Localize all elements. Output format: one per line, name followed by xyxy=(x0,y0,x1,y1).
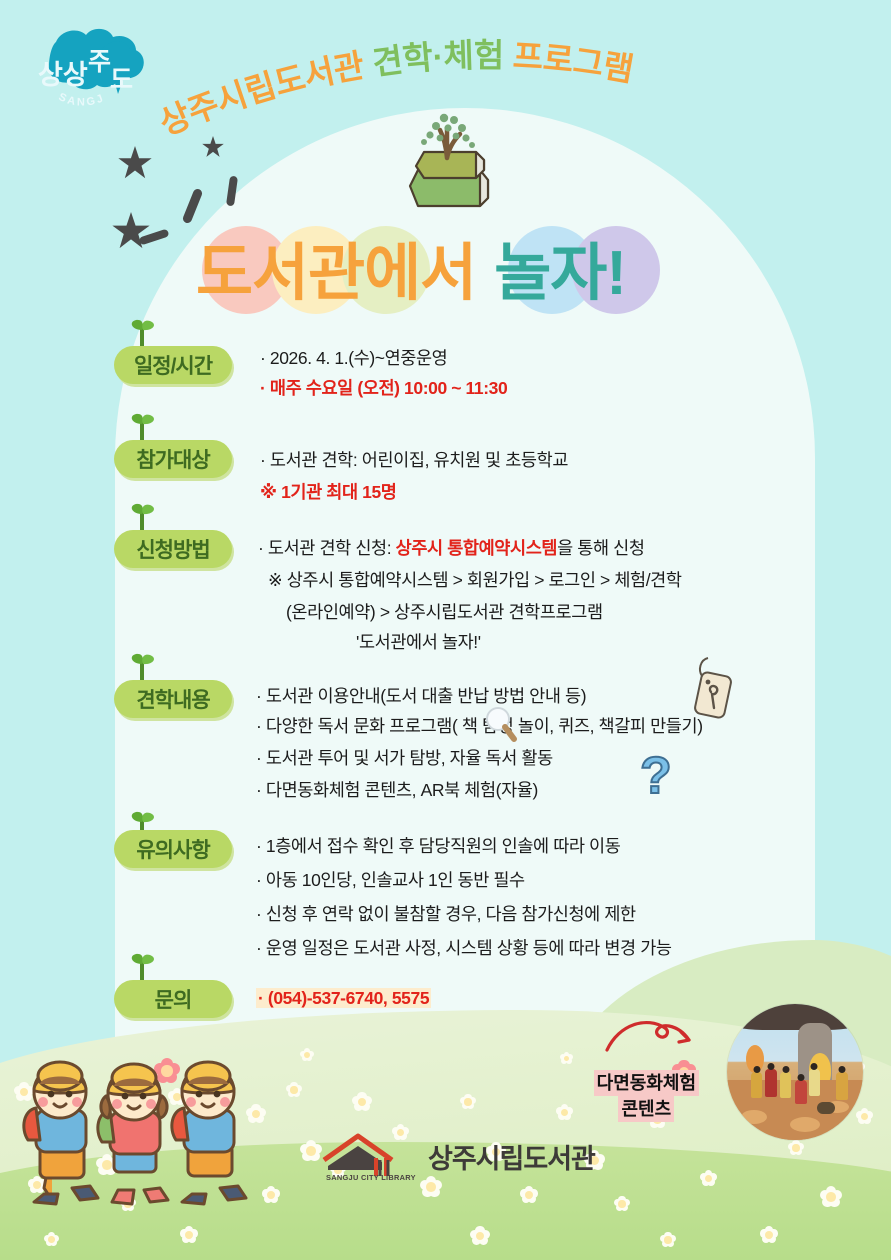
flower-decoration xyxy=(820,1186,842,1208)
children-illustration xyxy=(10,1048,280,1242)
contact-phone-value: · (054)-537-6740, 5575 xyxy=(256,988,431,1008)
howtoapply-line-4: '도서관에서 놀자!' xyxy=(356,628,481,656)
sprout-icon xyxy=(122,652,162,680)
contact-phone: · (054)-537-6740, 5575 xyxy=(256,984,431,1012)
poster-canvas: 상상 주 도 SANGJU 상주시립도서관 견학·체험 프로그램 xyxy=(0,0,891,1260)
bookmark-tag-icon xyxy=(678,650,740,728)
program-photo xyxy=(727,1004,863,1140)
notes-line-4: · 운영 일정은 도서관 사정, 시스템 상황 등에 따라 변경 가능 xyxy=(256,934,672,962)
dash-decoration xyxy=(138,229,169,246)
question-mark-icon: ? xyxy=(640,746,672,806)
magnifier-icon xyxy=(484,706,518,746)
svg-text:도: 도 xyxy=(110,66,133,94)
tourcontents-line-1: · 도서관 이용안내(도서 대출 반납 방법 안내 등) xyxy=(256,682,586,710)
arc-part3: 프로그램 xyxy=(512,37,636,88)
flower-decoration xyxy=(300,1048,314,1062)
library-logo-en: SANGJU CITY LIBRARY xyxy=(326,1173,416,1182)
section-label-contact: 문의 xyxy=(114,980,232,1018)
participants-line-1: · 도서관 견학: 어린이집, 유치원 및 초등학교 xyxy=(260,446,568,474)
photo-caption-line2: 콘텐츠 xyxy=(618,1096,674,1122)
photo-caption-line1: 다면동화체험 xyxy=(594,1070,699,1096)
howtoapply-line-2: ※ 상주시 통합예약시스템 > 회원가입 > 로그인 > 체험/견학 xyxy=(268,566,682,594)
photo-floor-pattern xyxy=(741,1110,767,1124)
photo-child xyxy=(836,1072,848,1100)
howtoapply-line-1-head: · 도서관 견학 신청: xyxy=(258,538,396,558)
flower-decoration xyxy=(286,1082,302,1098)
photo-floor-pattern xyxy=(790,1117,820,1132)
flower-decoration xyxy=(352,1092,372,1112)
notes-line-3: · 신청 후 연락 없이 불참할 경우, 다음 참가신청에 제한 xyxy=(256,900,636,928)
sprout-icon xyxy=(122,502,162,530)
howtoapply-emphasis: 상주시 통합예약시스템 xyxy=(396,538,557,558)
photo-topbar xyxy=(727,1004,863,1030)
photo-pointer-arrow xyxy=(603,1014,695,1064)
section-label-howtoapply: 신청방법 xyxy=(114,530,232,568)
tourcontents-line-4: · 다면동화체험 콘텐츠, AR북 체험(자율) xyxy=(256,776,538,804)
section-label-participants: 참가대상 xyxy=(114,440,232,478)
sprout-icon xyxy=(122,318,162,346)
howtoapply-line-1: · 도서관 견학 신청: 상주시 통합예약시스템을 통해 신청 xyxy=(258,534,645,562)
section-label-tourcontents: 견학내용 xyxy=(114,680,232,718)
main-title-part2: 놀자! xyxy=(494,222,626,312)
howtoapply-line-1-tail: 을 통해 신청 xyxy=(557,538,644,558)
photo-caption: 다면동화체험 콘텐츠 xyxy=(594,1070,699,1122)
flower-decoration xyxy=(560,1052,573,1065)
photo-child xyxy=(765,1069,777,1097)
howtoapply-line-3: (온라인예약) > 상주시립도서관 견학프로그램 xyxy=(286,598,603,626)
library-logo-name: 상주시립도서관 xyxy=(428,1137,595,1176)
sprout-icon xyxy=(122,952,162,980)
flower-decoration xyxy=(660,1232,676,1248)
flower-decoration xyxy=(470,1226,490,1246)
photo-child xyxy=(780,1072,791,1098)
arc-part1: 상주시립도서관 xyxy=(154,47,367,142)
section-label-notes: 유의사항 xyxy=(114,830,232,868)
svg-text:상주시립도서관: 상주시립도서관 견학·체험 프로그램 xyxy=(154,37,636,142)
participants-line-2: ※ 1기관 최대 15명 xyxy=(260,478,397,506)
schedule-line-1: · 2026. 4. 1.(수)~연중운영 xyxy=(260,344,447,372)
notes-line-2: · 아동 10인당, 인솔교사 1인 동반 필수 xyxy=(256,866,525,894)
flower-decoration xyxy=(556,1104,573,1121)
flower-decoration xyxy=(788,1140,804,1156)
library-logo: SANGJU CITY LIBRARY 상주시립도서관 xyxy=(318,1130,595,1182)
main-title: 도서관에서 놀자! xyxy=(196,222,626,312)
sprout-icon xyxy=(122,412,162,440)
sangju-brand-logo: 상상 주 도 SANGJU xyxy=(22,26,154,118)
library-logo-mark: SANGJU CITY LIBRARY xyxy=(318,1130,422,1182)
star-decoration xyxy=(118,146,152,180)
photo-child xyxy=(751,1072,762,1098)
main-title-part1: 도서관에서 xyxy=(196,222,476,312)
svg-text:상상: 상상 xyxy=(38,60,88,90)
flower-decoration xyxy=(520,1186,538,1204)
flower-decoration xyxy=(614,1196,630,1212)
svg-text:주: 주 xyxy=(88,48,111,76)
header-arc: 상주시립도서관 견학·체험 프로그램 xyxy=(150,34,750,144)
photo-child xyxy=(817,1102,835,1114)
schedule-line-2: · 매주 수요일 (오전) 10:00 ~ 11:30 xyxy=(260,374,507,402)
dash-decoration xyxy=(182,188,204,225)
tourcontents-line-2: · 다양한 독서 문화 프로그램( 책 탐정 놀이, 퀴즈, 책갈피 만들기) xyxy=(256,712,703,740)
arc-part2: 견학·체험 xyxy=(370,37,504,82)
photo-child xyxy=(795,1080,807,1104)
flower-decoration xyxy=(700,1170,717,1187)
section-label-schedule: 일정/시간 xyxy=(114,346,232,384)
flower-decoration xyxy=(460,1094,476,1110)
photo-child xyxy=(809,1069,820,1096)
tourcontents-line-3: · 도서관 투어 및 서가 탐방, 자율 독서 활동 xyxy=(256,744,553,772)
flower-decoration xyxy=(760,1226,778,1244)
notes-line-1: · 1층에서 접수 확인 후 담당직원의 인솔에 따라 이동 xyxy=(256,832,620,860)
